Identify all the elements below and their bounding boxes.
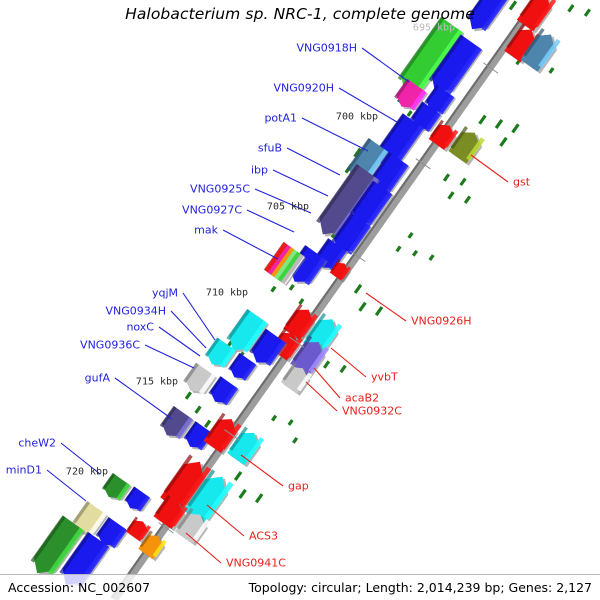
gene-label-acs3[interactable]: ACS3 xyxy=(249,531,278,542)
tick-marks-group xyxy=(186,0,590,502)
scale-tick-label: 700 kbp xyxy=(336,112,378,123)
gene-label-chew2[interactable]: cheW2 xyxy=(18,438,56,449)
gene-label-ibp[interactable]: ibp xyxy=(251,165,268,176)
page-title: Halobacterium sp. NRC-1, complete genome xyxy=(0,5,600,23)
gene-label-noxc[interactable]: noxC xyxy=(126,322,154,333)
scale-tick-label: 720 kbp xyxy=(66,467,108,478)
gene-label-vng0925c[interactable]: VNG0925C xyxy=(190,184,250,195)
scale-tick-label: 705 kbp xyxy=(267,202,309,213)
gene-label-yvbt[interactable]: yvbT xyxy=(371,372,398,383)
gene-label-yqjm[interactable]: yqjM xyxy=(152,288,178,299)
gene-label-vng0936c[interactable]: VNG0936C xyxy=(80,340,140,351)
gene-label-vng0934h[interactable]: VNG0934H xyxy=(105,306,166,317)
gene-label-gst[interactable]: gst xyxy=(513,177,530,188)
gene-label-mind1[interactable]: minD1 xyxy=(6,465,42,476)
gene-label-vng0918h[interactable]: VNG0918H xyxy=(296,43,357,54)
gene-label-gufa[interactable]: gufA xyxy=(85,373,110,384)
status-bar: Accession: NC_002607 Topology: circular;… xyxy=(0,574,600,600)
genome-map-viewer[interactable]: Halobacterium sp. NRC-1, complete genome… xyxy=(0,0,600,600)
gene-label-acab2[interactable]: acaB2 xyxy=(345,393,379,404)
scale-tick-label: 710 kbp xyxy=(206,288,248,299)
gene-label-vng0920h[interactable]: VNG0920H xyxy=(273,83,334,94)
accession-text: Accession: NC_002607 xyxy=(8,580,150,595)
gene-label-vng0926h[interactable]: VNG0926H xyxy=(411,316,472,327)
gene-label-vng0932c[interactable]: VNG0932C xyxy=(342,406,402,417)
gene-label-pota1[interactable]: potA1 xyxy=(264,113,297,124)
gene-label-vng0941c[interactable]: VNG0941C xyxy=(226,558,286,569)
gene-label-vng0927c[interactable]: VNG0927C xyxy=(182,205,242,216)
gene-label-sfub[interactable]: sfuB xyxy=(258,143,282,154)
gene-label-gap[interactable]: gap xyxy=(288,481,309,492)
gene-label-mak[interactable]: mak xyxy=(194,225,218,236)
scale-tick-label: 695 kbp xyxy=(413,23,455,34)
scale-tick-label: 715 kbp xyxy=(136,377,178,388)
genome-info-text: Topology: circular; Length: 2,014,239 bp… xyxy=(249,580,592,595)
